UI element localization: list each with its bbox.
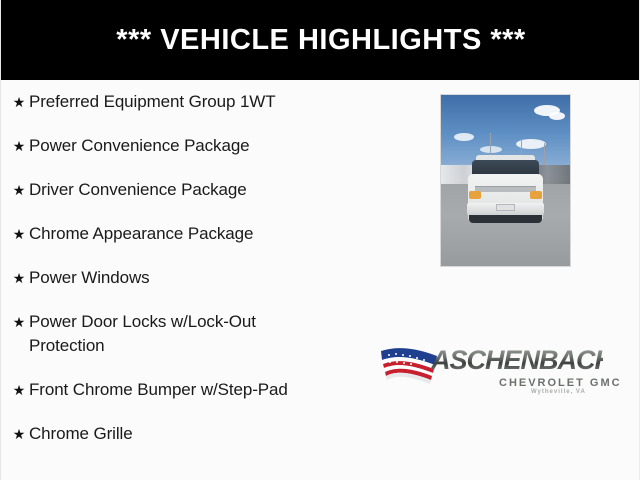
list-item: ★ Front Chrome Bumper w/Step-Pad [9,378,429,402]
star-bullet-icon: ★ [9,134,29,158]
list-item-label: Driver Convenience Package [29,178,247,202]
slide-header: *** VEHICLE HIGHLIGHTS *** [1,0,640,80]
cloud-shape [454,133,474,141]
star-bullet-icon: ★ [9,222,29,246]
star-bullet-icon: ★ [9,310,29,334]
vehicle-highlights-slide: *** VEHICLE HIGHLIGHTS *** ★ Preferred E… [0,0,640,480]
dealer-city: Wytheville, VA [531,389,586,395]
star-bullet-icon: ★ [9,178,29,202]
list-item-label: Chrome Appearance Package [29,222,253,246]
van-license-plate [496,204,514,211]
list-item: ★ Chrome Grille [9,422,429,446]
dealer-name: ASCHENBACH [431,347,603,374]
star-bullet-icon: ★ [9,90,29,114]
van-headlight-left [469,191,481,200]
list-item-label: Power Door Locks w/Lock-Out Protection [29,310,329,358]
list-item: ★ Power Convenience Package [9,134,429,158]
van-headlight-right [530,191,542,200]
list-item-label: Power Windows [29,266,150,290]
list-item: ★ Power Windows [9,266,429,290]
list-item-label: Front Chrome Bumper w/Step-Pad [29,378,288,402]
star-bullet-icon: ★ [9,266,29,290]
list-item: ★ Preferred Equipment Group 1WT [9,90,429,114]
dealer-brands: CHEVROLET GMC [499,377,622,389]
vehicle-photo [440,94,571,267]
dealer-logo: ASCHENBACH CHEVROLET GMC Wytheville, VA [379,341,599,397]
highlights-list: ★ Preferred Equipment Group 1WT ★ Power … [9,90,429,466]
list-item-label: Power Convenience Package [29,134,250,158]
list-item: ★ Driver Convenience Package [9,178,429,202]
list-item-label: Preferred Equipment Group 1WT [29,90,276,114]
van-grille [475,186,537,193]
list-item: ★ Chrome Appearance Package [9,222,429,246]
list-item: ★ Power Door Locks w/Lock-Out Protection [9,310,429,358]
star-bullet-icon: ★ [9,422,29,446]
star-bullet-icon: ★ [9,378,29,402]
van-air-dam [469,215,541,224]
page-title: *** VEHICLE HIGHLIGHTS *** [116,26,525,55]
list-item-label: Chrome Grille [29,422,133,446]
